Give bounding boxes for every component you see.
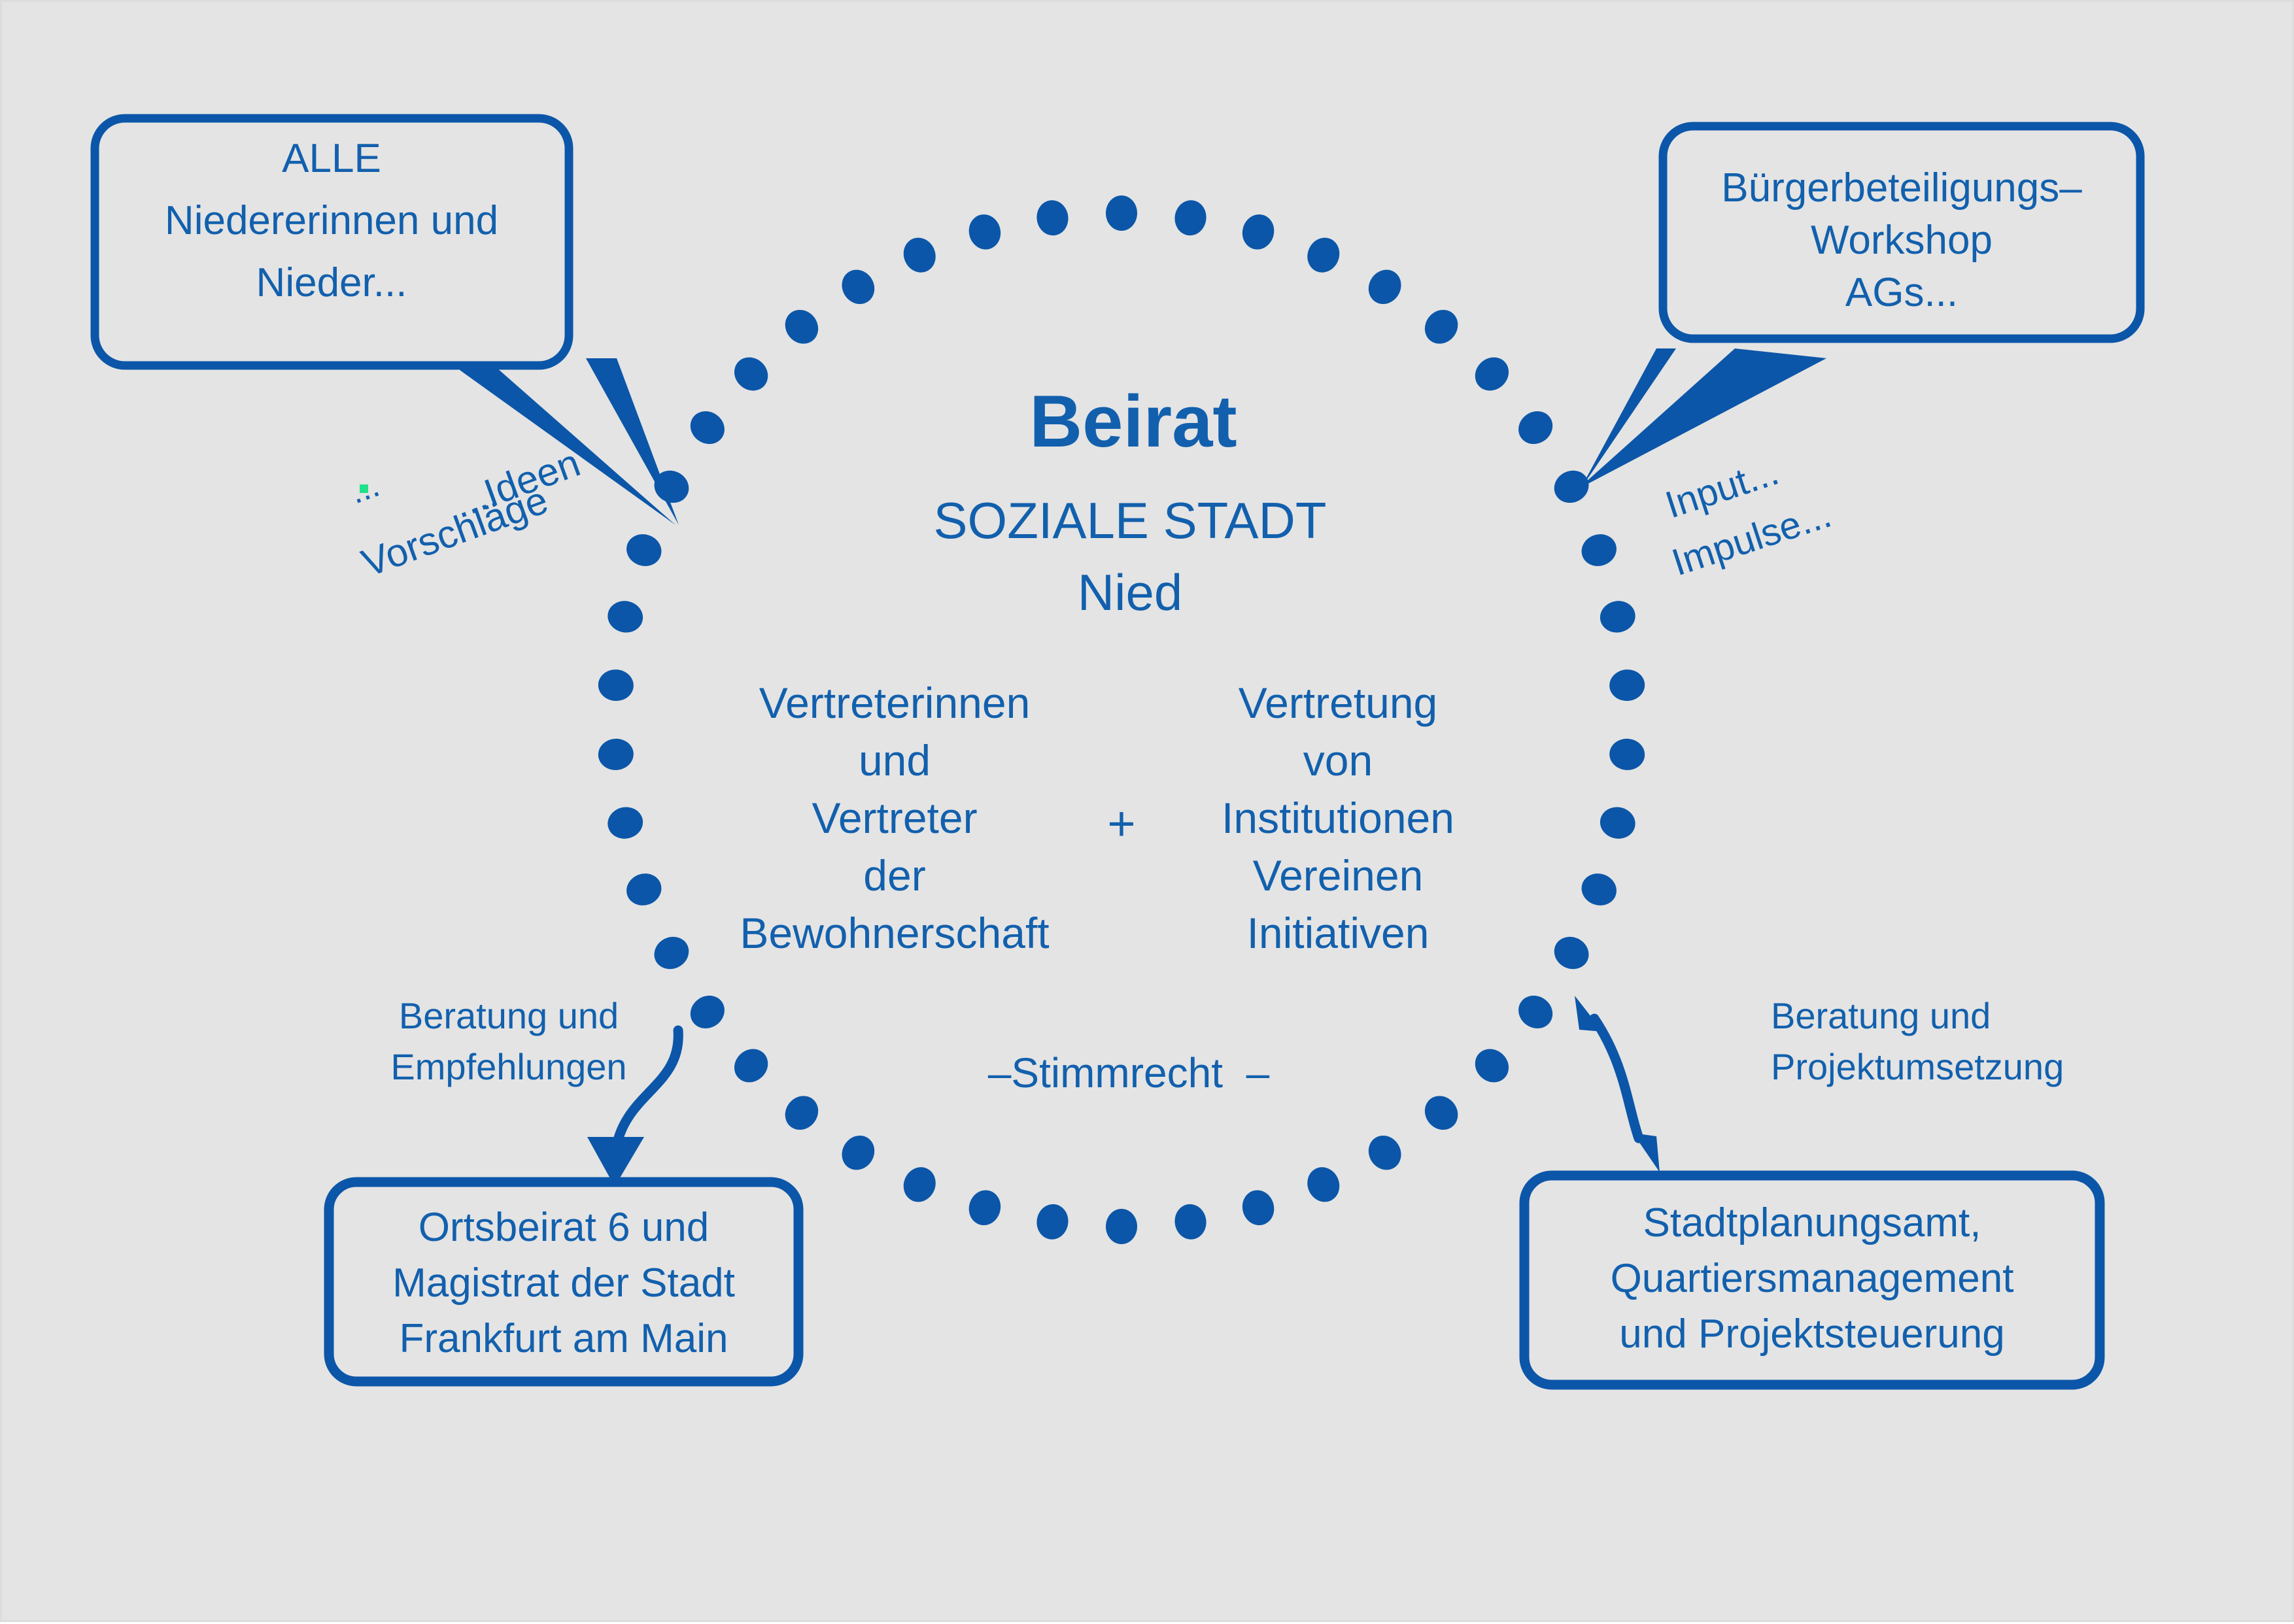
ring-dot	[1106, 1209, 1137, 1244]
ring-dot	[1512, 405, 1559, 450]
ring-dot	[965, 1187, 1005, 1229]
box-bottom-right-line-3: und Projektsteuerung	[1619, 1311, 2004, 1357]
center-plus-symbol: +	[1107, 796, 1135, 851]
bubble-top-left-line-3: Nieder...	[256, 260, 407, 305]
arrow-bottom-right-label-line-2: Projektumsetzung	[1771, 1046, 2064, 1087]
ring-dot	[898, 1162, 941, 1208]
ring-dot	[1597, 598, 1638, 635]
ring-dot	[1173, 1202, 1208, 1242]
arrow-bottom-left-group: Beratung und Empfehlungen	[390, 995, 678, 1187]
ring-dot	[727, 350, 774, 398]
ring-dot	[965, 211, 1005, 253]
box-bottom-right-line-1: Stadtplanungsamt,	[1643, 1200, 1981, 1245]
ring-dot	[1362, 1130, 1407, 1176]
ring-dot	[1239, 211, 1278, 253]
arrow-bottom-right-curve	[1594, 1019, 1639, 1138]
ring-dot	[1549, 931, 1594, 975]
ring-dot	[622, 530, 666, 571]
ring-dot	[597, 668, 634, 702]
box-bottom-left-line-3: Frankfurt am Main	[399, 1316, 728, 1361]
ring-dot	[1035, 198, 1070, 237]
arrow-bottom-right-group: Beratung und Projektumsetzung	[1575, 995, 2064, 1172]
ring-dot	[1468, 1042, 1515, 1089]
speech-bubble-tail2-top-left	[586, 358, 679, 525]
ring-dot	[1302, 233, 1345, 278]
ring-dot	[1173, 198, 1208, 237]
ring-dot	[1418, 1089, 1464, 1136]
center-right-line-2: von	[1303, 736, 1373, 785]
ring-dot	[1512, 989, 1559, 1035]
diagram-canvas: ALLE Niedererinnen und Nieder... Bürgerb…	[0, 0, 2294, 1622]
center-left-line-3: Vertreter	[812, 794, 977, 842]
ring-dot	[622, 869, 666, 910]
ring-dot	[684, 405, 731, 450]
ring-dot	[727, 1042, 774, 1089]
ring-dot	[597, 737, 634, 771]
ring-dot	[1302, 1162, 1345, 1208]
ring-dot	[1597, 804, 1638, 842]
ring-dot	[684, 989, 731, 1035]
ring-dot	[605, 598, 646, 635]
center-right-line-4: Vereinen	[1253, 851, 1424, 900]
edge-label-left: ...Ideen Vorschläge ...	[345, 441, 585, 585]
bubble-top-right-line-3: AGs...	[1845, 270, 1958, 315]
green-pixel-artifact	[360, 484, 368, 493]
box-bottom-right-line-2: Quartiersmanagement	[1611, 1256, 2014, 1301]
ring-dot	[836, 263, 881, 310]
ring-dot	[1106, 195, 1137, 231]
center-subtitle-line-1: SOZIALE STADT	[934, 492, 1327, 549]
center-subtitle-line-2: Nied	[1078, 564, 1182, 621]
box-bottom-left-line-2: Magistrat der Stadt	[392, 1260, 735, 1306]
ring-dot	[1362, 263, 1407, 310]
speech-bubble-top-left[interactable]: ALLE Niedererinnen und Nieder...	[95, 118, 679, 525]
speech-bubble-top-right[interactable]: Bürgerbeteiligungs– Workshop AGs...	[1578, 126, 2140, 491]
speech-bubble-tail-top-right	[1578, 348, 1826, 489]
ring-dot	[1549, 465, 1594, 509]
center-left-line-1: Vertreterinnen	[759, 679, 1031, 727]
ring-dot	[836, 1130, 881, 1176]
bubble-top-right-line-1: Bürgerbeteiligungs–	[1721, 165, 2082, 211]
center-left-line-2: und	[859, 736, 931, 785]
box-bottom-right[interactable]: Stadtplanungsamt, Quartiersmanagement un…	[1524, 1176, 2100, 1385]
center-right-line-3: Institutionen	[1222, 794, 1454, 842]
ring-dot	[1035, 1202, 1070, 1242]
ring-dot	[1609, 737, 1646, 771]
bubble-top-left-line-2: Niedererinnen und	[165, 198, 498, 243]
ring-dot	[1418, 303, 1464, 350]
center-left-line-4: der	[863, 851, 925, 900]
box-bottom-left[interactable]: Ortsbeirat 6 und Magistrat der Stadt Fra…	[329, 1182, 798, 1381]
center-right-line-1: Vertretung	[1239, 679, 1438, 727]
bubble-top-left-line-1: ALLE	[282, 136, 381, 181]
ring-dot	[778, 1089, 825, 1136]
arrow-bottom-left-label-line-2: Empfehlungen	[390, 1046, 626, 1087]
arrow-bottom-right-label-line-1: Beratung und	[1771, 995, 1991, 1036]
ring-dot	[778, 303, 825, 350]
center-title: Beirat	[1029, 381, 1237, 462]
ring-dot	[898, 233, 941, 278]
center-footnote: –Stimmrecht –	[988, 1049, 1270, 1096]
ring-dot	[1468, 350, 1515, 398]
center-right-line-5: Initiativen	[1247, 909, 1429, 957]
ring-dot	[1577, 530, 1621, 571]
ring-dot	[1609, 668, 1646, 702]
edge-label-right: Input... Impulse...	[1660, 450, 1836, 584]
ring-dot	[1577, 869, 1621, 910]
center-left-line-5: Bewohnerschaft	[740, 909, 1049, 957]
center-content: Beirat SOZIALE STADT Nied Vertreterinnen…	[740, 381, 1454, 1096]
ring-dot	[649, 931, 694, 975]
box-bottom-left-line-1: Ortsbeirat 6 und	[419, 1205, 710, 1250]
ring-dot	[605, 804, 646, 842]
diagram-svg: ALLE Niedererinnen und Nieder... Bürgerb…	[2, 2, 2294, 1624]
ring-dot	[1239, 1187, 1278, 1229]
bubble-top-right-line-2: Workshop	[1811, 218, 1993, 263]
arrow-bottom-left-label-line-1: Beratung und	[399, 995, 619, 1036]
